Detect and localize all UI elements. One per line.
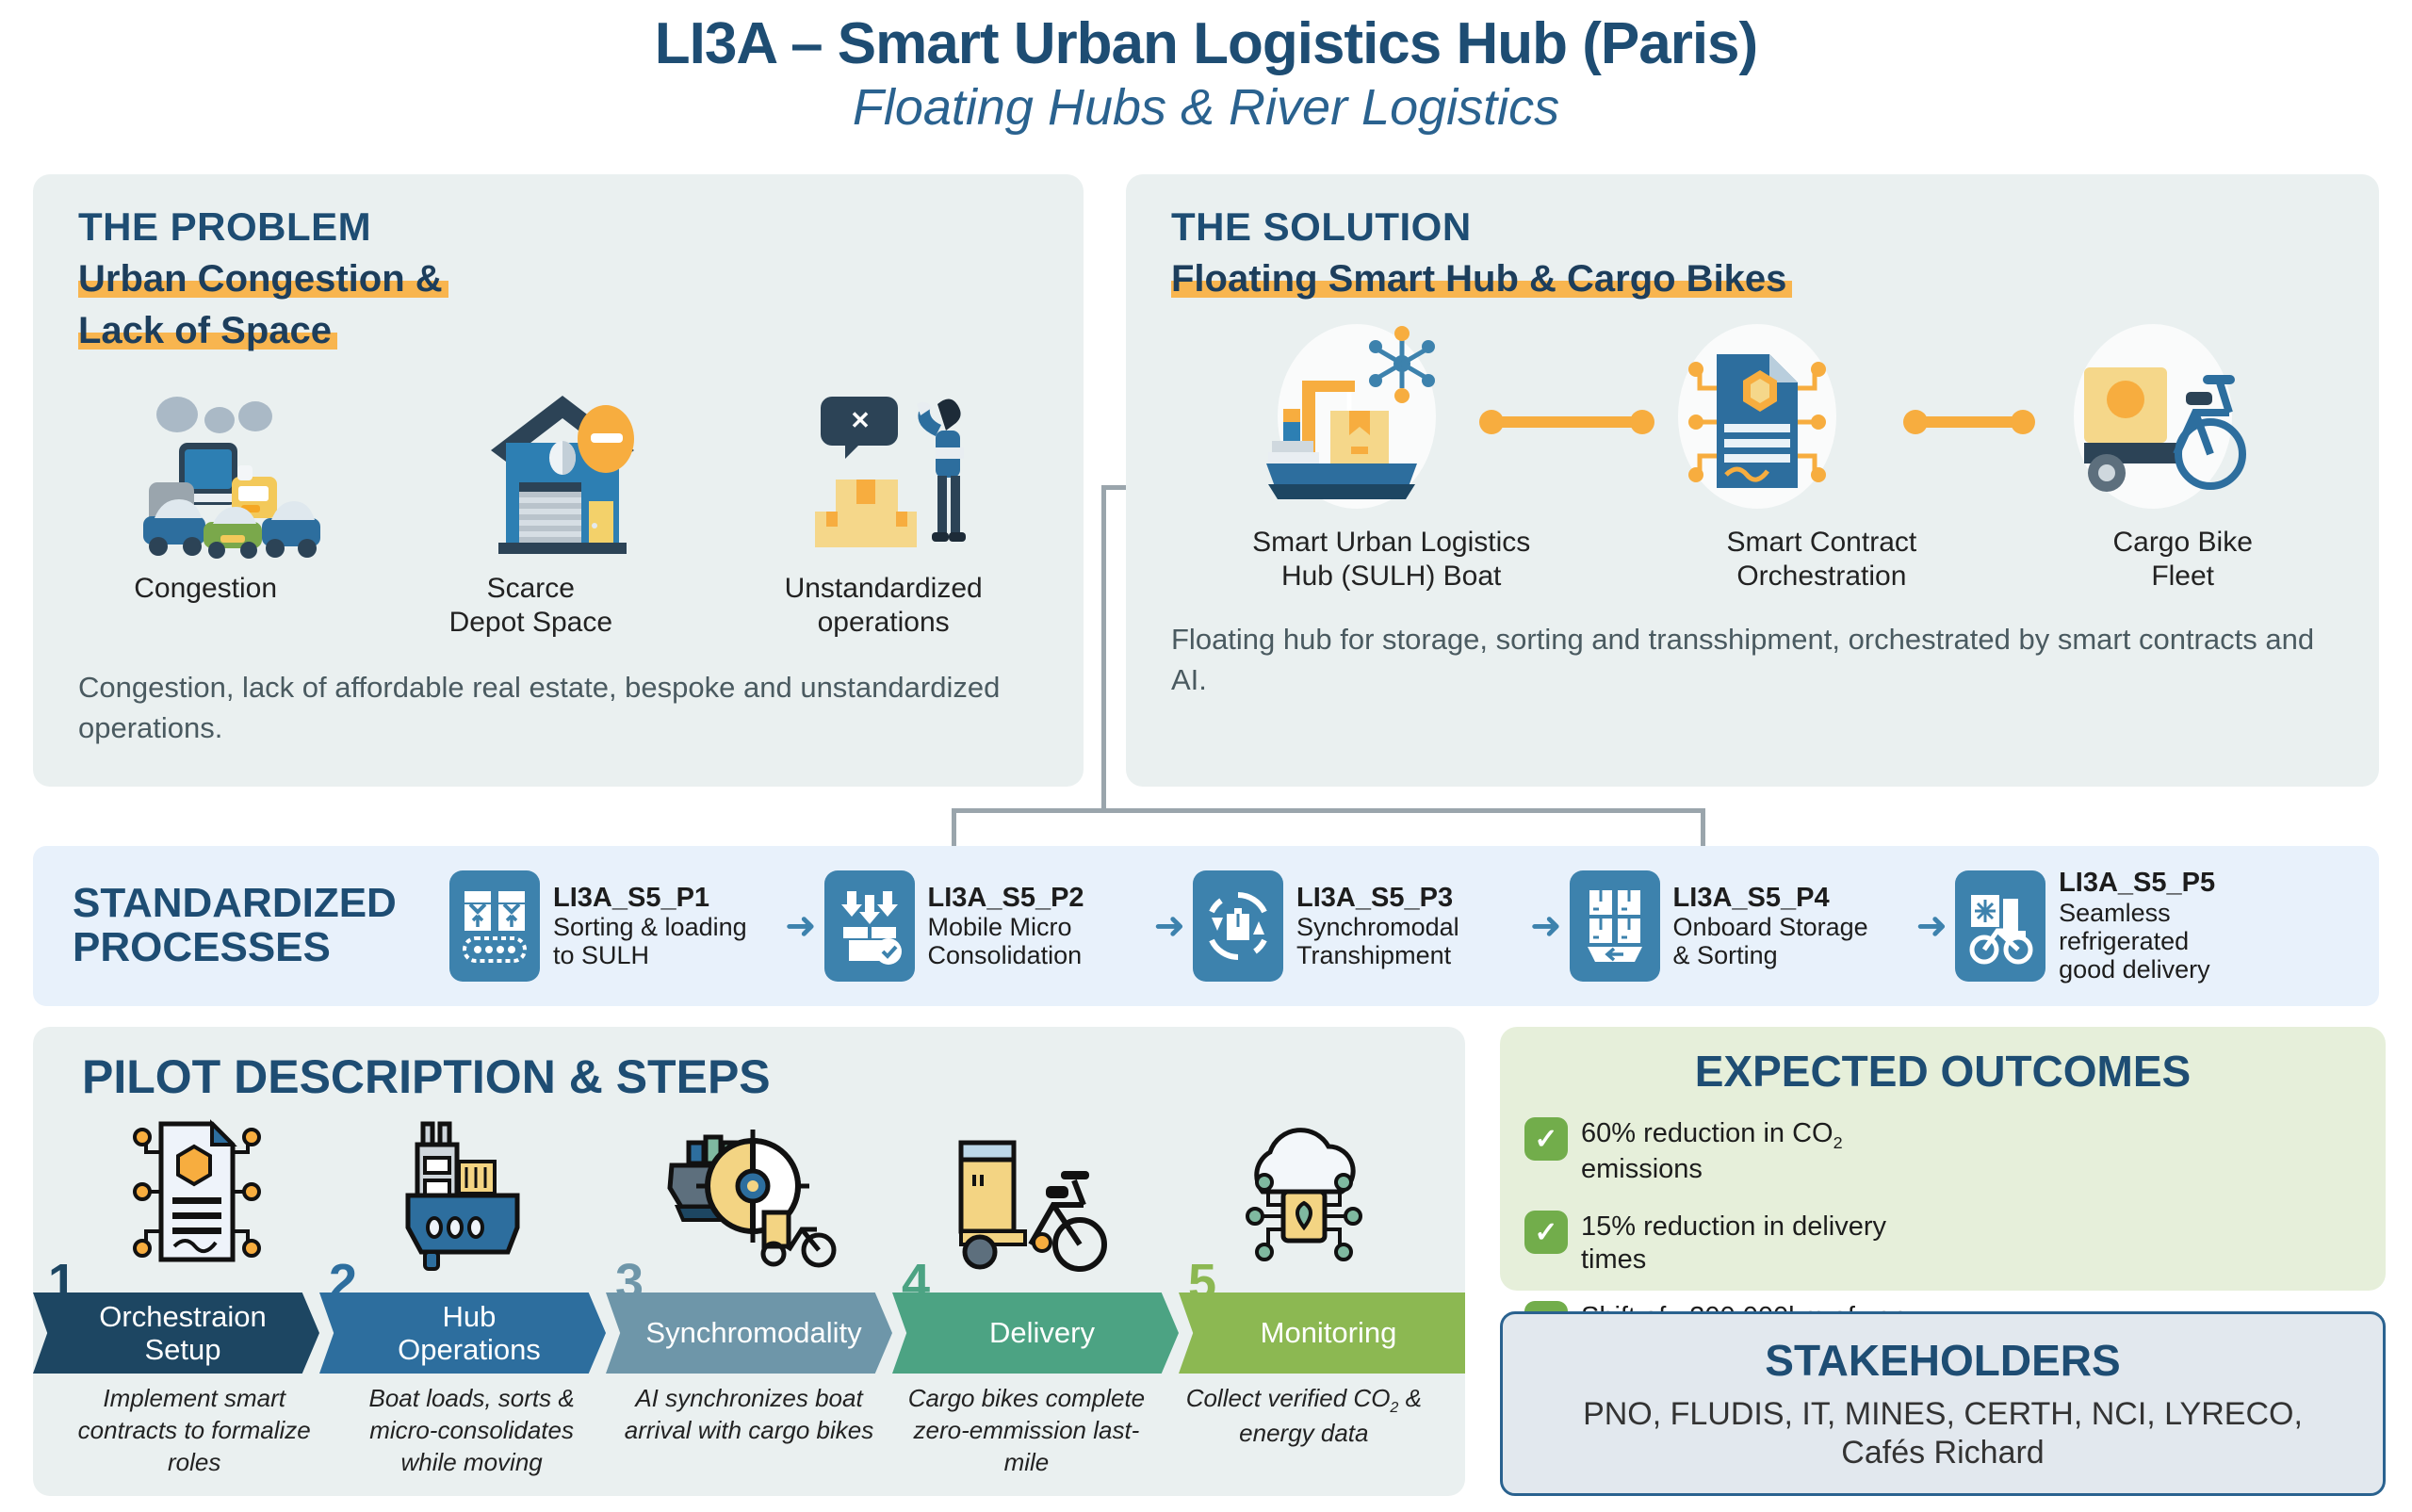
problem-icon-unstandardized: ✕ [798, 380, 986, 568]
standardized-processes-band: STANDARDIZED PROCESSES [33, 846, 2379, 1006]
container-ship-icon [387, 1111, 557, 1273]
process-arrow-2: ➜ [1530, 904, 1562, 948]
problem-icon-label-1: Scarce Depot Space [449, 572, 612, 640]
pilot-icon-1 [57, 1111, 334, 1277]
pilot-card: PILOT DESCRIPTION & STEPS [33, 1027, 1465, 1496]
pilot-icon-3 [611, 1111, 888, 1277]
solution-icon-label-0: Smart Urban Logistics Hub (SULH) Boat [1252, 526, 1530, 593]
process-icon-3 [1570, 870, 1660, 982]
solution-heading: Floating Smart Hub & Cargo Bikes [1171, 252, 1786, 301]
process-icon-2 [1193, 870, 1283, 982]
smart-contract-doc-icon [116, 1111, 276, 1273]
pilot-step-3: 3 Synchromodality [606, 1272, 892, 1374]
step-chevron-1: OrchestraionSetup [33, 1293, 319, 1374]
pilot-step-2: 2 HubOperations [319, 1272, 606, 1374]
cargo-bike-icon [2045, 322, 2261, 515]
solution-card: THE SOLUTION Floating Smart Hub & Cargo … [1126, 174, 2379, 787]
warehouse-no-space-icon [468, 384, 657, 563]
problem-eyebrow: THE PROBLEM [78, 206, 1046, 248]
process-desc-4: Seamless refrigerated good delivery [2059, 899, 2275, 984]
process-arrow-3: ➜ [1916, 904, 1948, 948]
outcome-item-1: ✓ 15% reduction in delivery times [1524, 1211, 1943, 1276]
process-icon-0 [449, 870, 540, 982]
pilot-step-5: 5 Monitoring [1179, 1272, 1465, 1374]
process-desc-1: Mobile Micro Consolidation [928, 913, 1141, 969]
consolidation-box-check-icon [836, 886, 904, 967]
infographic-page: LI3A – Smart Urban Logistics Hub (Paris)… [0, 0, 2412, 1512]
step-chevron-4: Delivery [892, 1293, 1179, 1374]
step-chevron-2: HubOperations [319, 1293, 606, 1374]
step-note-2: Boat loads, sorts & micro-consolidates w… [344, 1383, 598, 1478]
traffic-congestion-icon [130, 384, 328, 563]
problem-icon-label-2: Unstandardized operations [785, 572, 983, 640]
problem-icon-depot [468, 384, 657, 568]
outcomes-card: EXPECTED OUTCOMES ✓ 60% reduction in CO2… [1500, 1027, 2386, 1291]
step-chevron-3: Synchromodality [606, 1293, 892, 1374]
page-title: LI3A – Smart Urban Logistics Hub (Paris) [0, 13, 2412, 74]
solution-connector-1 [1489, 416, 1645, 428]
process-icon-4 [1955, 870, 2045, 982]
outcome-item-0: ✓ 60% reduction in CO2 emissions [1524, 1117, 1954, 1186]
cloud-monitoring-icon [1217, 1111, 1387, 1273]
cargo-boat-crane-icon [1244, 322, 1470, 515]
solution-icon-label-2: Cargo Bike Fleet [2112, 526, 2252, 593]
problem-icon-congestion [130, 384, 328, 568]
outcome-text-0: 60% reduction in CO2 emissions [1581, 1117, 1943, 1186]
problem-icon-label-0: Congestion [134, 572, 277, 640]
solution-eyebrow: THE SOLUTION [1171, 206, 2341, 248]
stakeholders-list: PNO, FLUDIS, IT, MINES, CERTH, NCI, LYRE… [1503, 1386, 2383, 1473]
process-code-4: LI3A_S5_P5 [2059, 868, 2275, 898]
process-item-0: LI3A_S5_P1 Sorting & loading to SULH ➜ [449, 870, 817, 982]
solution-icon-boat [1244, 322, 1470, 520]
process-desc-3: Onboard Storage & Sorting [1673, 913, 1903, 969]
process-arrow-1: ➜ [1154, 904, 1186, 948]
check-icon: ✓ [1524, 1117, 1568, 1161]
solution-icon-contract [1649, 322, 1866, 520]
smart-contract-document-icon [1649, 322, 1866, 515]
unstandardized-operations-icon: ✕ [798, 380, 986, 563]
stakeholders-title: STAKEHOLDERS [1503, 1314, 2383, 1386]
process-item-1: LI3A_S5_P2 Mobile Micro Consolidation ➜ [824, 870, 1186, 982]
synchromodality-gear-boat-icon [655, 1111, 843, 1273]
pilot-icon-2 [334, 1111, 611, 1277]
process-code-3: LI3A_S5_P4 [1673, 883, 1903, 913]
pilot-step-4: 4 Delivery [892, 1272, 1179, 1374]
svg-text:✕: ✕ [850, 406, 871, 434]
process-code-0: LI3A_S5_P1 [553, 883, 772, 913]
process-code-1: LI3A_S5_P2 [928, 883, 1141, 913]
step-chevron-5: Monitoring [1179, 1293, 1465, 1374]
pilot-icon-4 [888, 1111, 1165, 1277]
process-item-4: LI3A_S5_P5 Seamless refrigerated good de… [1955, 868, 2275, 984]
process-item-2: LI3A_S5_P3 Synchromodal Transhipment ➜ [1193, 870, 1562, 982]
onboard-storage-rack-icon [1582, 885, 1648, 967]
step-note-1: Implement smart contracts to formalize r… [67, 1383, 321, 1478]
header: LI3A – Smart Urban Logistics Hub (Paris)… [0, 0, 2412, 136]
solution-description: Floating hub for storage, sorting and tr… [1126, 593, 2379, 701]
process-arrow-0: ➜ [785, 904, 817, 948]
conveyor-boxes-icon [461, 886, 529, 967]
step-note-3: AI synchronizes boat arrival with cargo … [622, 1383, 876, 1447]
pilot-title: PILOT DESCRIPTION & STEPS [33, 1027, 1465, 1104]
process-code-2: LI3A_S5_P3 [1296, 883, 1517, 913]
process-desc-0: Sorting & loading to SULH [553, 913, 772, 969]
step-note-4: Cargo bikes complete zero-emmission last… [899, 1383, 1153, 1478]
process-icon-1 [824, 870, 915, 982]
problem-description: Congestion, lack of affordable real esta… [33, 640, 1084, 749]
cargo-bike-delivery-icon [937, 1111, 1116, 1273]
page-subtitle: Floating Hubs & River Logistics [0, 80, 2412, 136]
pilot-icon-5 [1164, 1111, 1441, 1277]
solution-icon-cargobike [2045, 322, 2261, 520]
problem-heading-line2: Lack of Space [78, 303, 332, 353]
problem-card: THE PROBLEM Urban Congestion & Lack of S… [33, 174, 1084, 787]
outcome-text-1: 15% reduction in delivery times [1581, 1211, 1943, 1276]
check-icon: ✓ [1524, 1211, 1568, 1254]
solution-icon-label-1: Smart Contract Orchestration [1726, 526, 1916, 593]
stakeholders-card: STAKEHOLDERS PNO, FLUDIS, IT, MINES, CER… [1500, 1311, 2386, 1496]
refrigerated-cargo-bike-icon [1965, 886, 2035, 967]
process-desc-2: Synchromodal Transhipment [1296, 913, 1517, 969]
outcomes-title: EXPECTED OUTCOMES [1500, 1027, 2386, 1097]
transhipment-cycle-icon [1202, 886, 1274, 967]
pilot-step-1: 1 OrchestraionSetup [33, 1272, 319, 1374]
problem-heading-line1: Urban Congestion & [78, 252, 443, 301]
solution-connector-2 [1913, 416, 2026, 428]
process-item-3: LI3A_S5_P4 Onboard Storage & Sorting ➜ [1570, 870, 1948, 982]
step-note-5: Collect verified CO2 & energy data [1177, 1383, 1431, 1450]
processes-title: STANDARDIZED PROCESSES [73, 882, 449, 969]
